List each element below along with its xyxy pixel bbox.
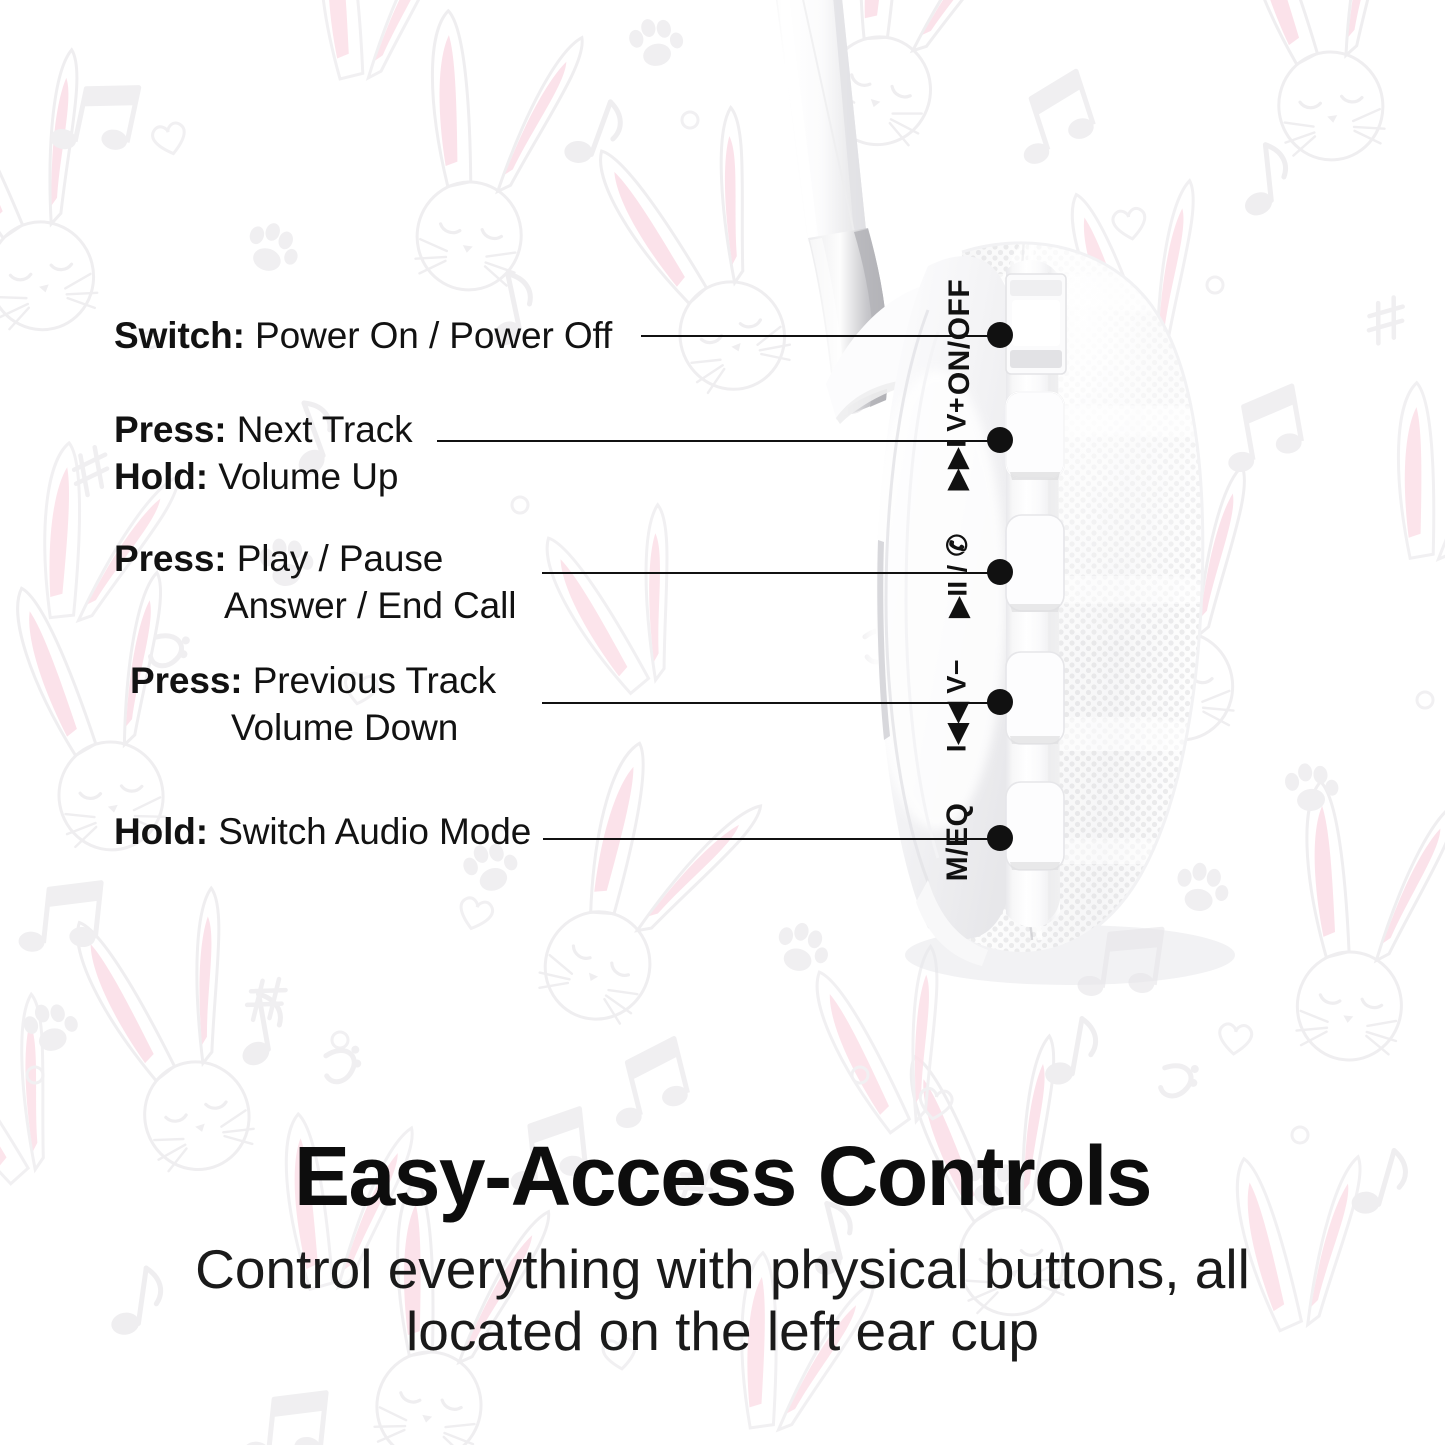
infographic-canvas: ON/OFF ▶▶I V+ ▶II / ✆ I◀◀ V− M/EQ Switch… <box>0 0 1445 1445</box>
leader-line-next-track <box>437 440 1003 442</box>
callout-next-track-lead: Press: <box>114 409 227 450</box>
control-buttons-hardware <box>1006 392 1064 870</box>
leader-line-prev-track <box>542 702 1003 704</box>
callout-previous-track-line1: Press: Previous Track <box>130 662 496 701</box>
callout-play-pause-line2: Answer / End Call <box>114 587 516 626</box>
callout-audio-mode-text: Switch Audio Mode <box>208 811 531 852</box>
callout-previous-track-text: Previous Track <box>243 660 496 701</box>
callout-audio-mode-lead: Hold: <box>114 811 208 852</box>
callout-power: Switch: Power On / Power Off <box>114 317 612 356</box>
leader-line-play-pause <box>542 572 1003 574</box>
button-legend-mode-eq: M/EQ <box>941 787 975 897</box>
button-marker-volume-up <box>987 427 1013 453</box>
callout-next-track-text: Next Track <box>227 409 413 450</box>
subheadline-line1: Control everything with physical buttons… <box>60 1238 1385 1300</box>
headline: Easy-Access Controls <box>0 1128 1445 1225</box>
button-legend-volume-down: I◀◀ V− <box>942 641 973 771</box>
callout-play-pause-text: Play / Pause <box>227 538 444 579</box>
callout-volume-up-text: Volume Up <box>208 456 398 497</box>
button-marker-audio-mode <box>987 825 1013 851</box>
callout-volume-down-text: Volume Down <box>231 707 458 748</box>
callout-previous-track-line2: Volume Down <box>130 709 496 748</box>
button-marker-play-pause <box>987 559 1013 585</box>
button-marker-power <box>987 322 1013 348</box>
callout-power-lead: Switch: <box>114 315 245 356</box>
leader-line-audio-mode <box>543 838 1003 840</box>
callout-power-line1: Switch: Power On / Power Off <box>114 317 612 356</box>
callout-next-track: Press: Next Track Hold: Volume Up <box>114 411 413 497</box>
button-marker-volume-down <box>987 689 1013 715</box>
callout-next-track-line2: Hold: Volume Up <box>114 458 413 497</box>
callout-play-pause: Press: Play / Pause Answer / End Call <box>114 540 516 626</box>
callout-answer-call-text: Answer / End Call <box>224 585 516 626</box>
button-legend-play-pause: ▶II / ✆ <box>943 516 974 636</box>
button-legend-volume-up: ▶▶I V+ <box>942 379 973 509</box>
leader-line-power <box>641 335 1003 337</box>
subheadline: Control everything with physical buttons… <box>60 1238 1385 1362</box>
subheadline-line2: located on the left ear cup <box>60 1300 1385 1362</box>
callout-power-text: Power On / Power Off <box>245 315 612 356</box>
callout-volume-up-lead: Hold: <box>114 456 208 497</box>
callout-previous-track: Press: Previous Track Volume Down <box>130 662 496 748</box>
callout-play-pause-lead: Press: <box>114 538 227 579</box>
callout-audio-mode: Hold: Switch Audio Mode <box>114 813 531 852</box>
power-switch-hardware <box>1006 274 1066 374</box>
callout-previous-track-lead: Press: <box>130 660 243 701</box>
callout-next-track-line1: Press: Next Track <box>114 411 413 450</box>
callout-play-pause-line1: Press: Play / Pause <box>114 540 516 579</box>
callout-audio-mode-line1: Hold: Switch Audio Mode <box>114 813 531 852</box>
